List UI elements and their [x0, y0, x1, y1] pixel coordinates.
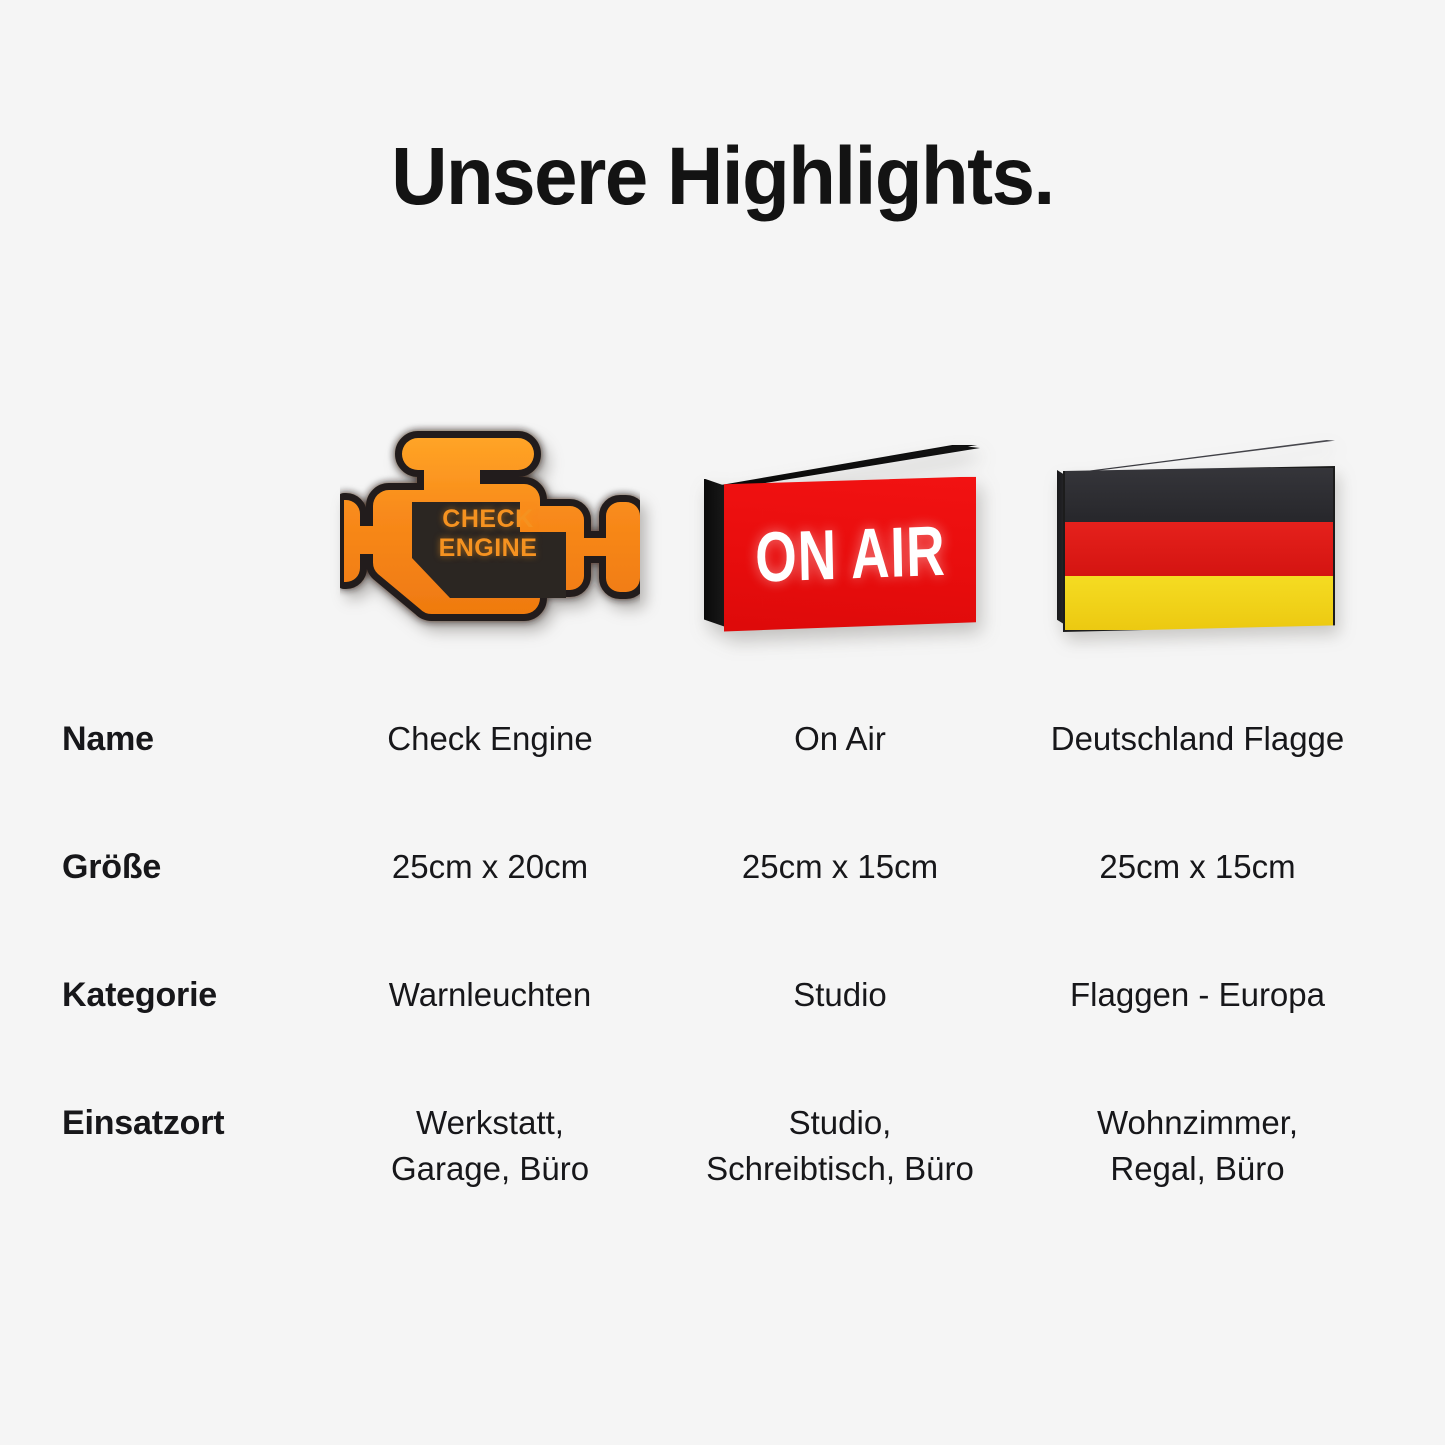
table-row: Name Check Engine On Air Deutschland Fla… — [0, 690, 1445, 818]
flag-band-gold — [1065, 576, 1333, 630]
cell-name-deutschland-flagge: Deutschland Flagge — [1030, 690, 1365, 762]
on-air-sign-text: ON AIR — [754, 510, 946, 599]
product-image-check-engine[interactable]: CHECKENGINE — [315, 400, 665, 665]
cell-kategorie-on-air: Studio — [690, 946, 990, 1018]
cell-name-on-air: On Air — [690, 690, 990, 762]
on-air-lightbox-icon: ON AIR — [690, 433, 990, 633]
cell-einsatzort-on-air: Studio, Schreibtisch, Büro — [690, 1074, 990, 1191]
cell-groesse-check-engine: 25cm x 20cm — [340, 818, 640, 890]
table-row: Größe 25cm x 20cm 25cm x 15cm 25cm x 15c… — [0, 818, 1445, 946]
cell-groesse-deutschland-flagge: 25cm x 15cm — [1030, 818, 1365, 890]
engine-shape-svg — [340, 420, 640, 645]
product-image-on-air[interactable]: ON AIR — [665, 400, 1015, 665]
flag-band-black — [1065, 468, 1333, 522]
specs-table: Name Check Engine On Air Deutschland Fla… — [0, 690, 1445, 1202]
row-label-name: Name — [62, 690, 322, 763]
flag-box-front-face — [1063, 466, 1335, 632]
row-label-einsatzort: Einsatzort — [62, 1074, 322, 1147]
cell-name-check-engine: Check Engine — [340, 690, 640, 762]
table-row: Kategorie Warnleuchten Studio Flaggen - … — [0, 946, 1445, 1074]
check-engine-lamp-icon: CHECKENGINE — [340, 420, 640, 645]
highlights-infographic: Unsere Highlights. — [0, 0, 1445, 1445]
product-image-row: CHECKENGINE ON AIR — [0, 400, 1445, 665]
cell-groesse-on-air: 25cm x 15cm — [690, 818, 990, 890]
cell-einsatzort-deutschland-flagge: Wohnzimmer, Regal, Büro — [1030, 1074, 1365, 1191]
flag-band-red — [1065, 522, 1333, 576]
row-label-kategorie: Kategorie — [62, 946, 322, 1019]
cell-kategorie-check-engine: Warnleuchten — [340, 946, 640, 1018]
on-air-box-front-face: ON AIR — [724, 477, 976, 632]
row-label-groesse: Größe — [62, 818, 322, 891]
product-image-deutschland-flagge[interactable] — [1020, 400, 1370, 665]
germany-flag-lightbox-icon — [1045, 430, 1345, 635]
cell-einsatzort-check-engine: Werkstatt, Garage, Büro — [340, 1074, 640, 1191]
cell-kategorie-deutschland-flagge: Flaggen - Europa — [1030, 946, 1365, 1018]
table-row: Einsatzort Werkstatt, Garage, Büro Studi… — [0, 1074, 1445, 1202]
page-title: Unsere Highlights. — [36, 134, 1409, 220]
